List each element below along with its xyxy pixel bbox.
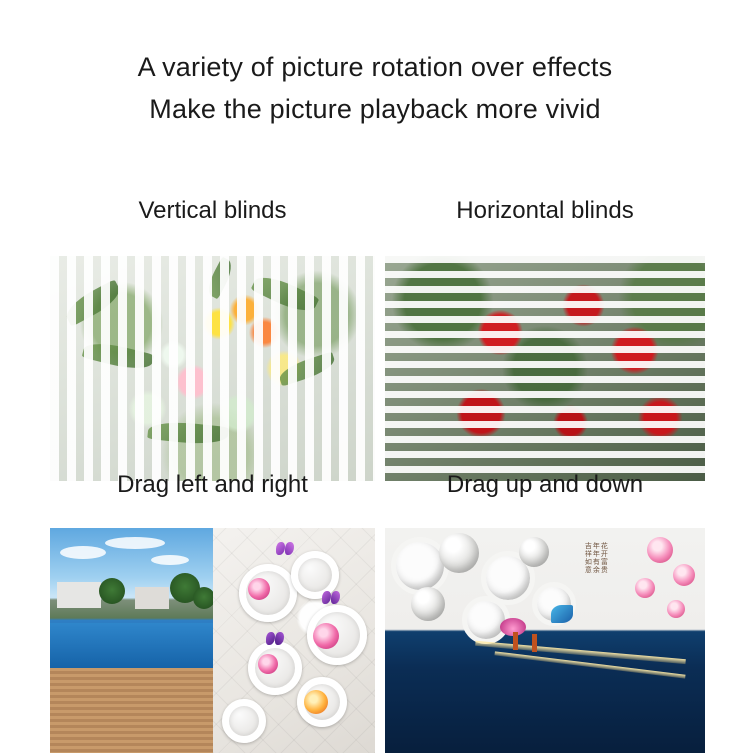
panel-drag-up-down[interactable]: Drag up and down 花开富贵 年年有余 吉祥如意 — [385, 470, 705, 753]
panel-label-drag-left-right: Drag left and right — [50, 470, 375, 500]
panel-horizontal-blinds[interactable]: Horizontal blinds — [385, 196, 705, 481]
headline: A variety of picture rotation over effec… — [0, 46, 750, 130]
thumbnail-horizontal-blinds[interactable] — [385, 256, 705, 481]
panel-drag-left-right[interactable]: Drag left and right — [50, 470, 375, 753]
panel-label-horizontal-blinds: Horizontal blinds — [385, 196, 705, 226]
panel-label-drag-up-down: Drag up and down — [385, 470, 705, 500]
thumbnail-vertical-blinds[interactable] — [50, 256, 375, 481]
horizontal-blind-stripes — [385, 256, 705, 481]
calligraphy-text: 花开富贵 年年有余 吉祥如意 — [583, 542, 607, 618]
butterfly-rings-photo — [213, 528, 376, 753]
butterfly-icon — [551, 605, 573, 623]
bridge-mural-image: 花开富贵 年年有余 吉祥如意 — [385, 528, 705, 753]
panel-vertical-blinds[interactable]: Vertical blinds — [50, 196, 375, 481]
panel-label-vertical-blinds: Vertical blinds — [50, 196, 375, 226]
vertical-blind-stripes — [50, 256, 375, 481]
thumbnail-drag-left-right[interactable] — [50, 528, 375, 753]
thumbnail-drag-up-down[interactable]: 花开富贵 年年有余 吉祥如意 — [385, 528, 705, 753]
headline-line-1: A variety of picture rotation over effec… — [0, 46, 750, 88]
headline-line-2: Make the picture playback more vivid — [0, 88, 750, 130]
pool-photo — [50, 528, 213, 753]
poster-root: A variety of picture rotation over effec… — [0, 0, 750, 750]
